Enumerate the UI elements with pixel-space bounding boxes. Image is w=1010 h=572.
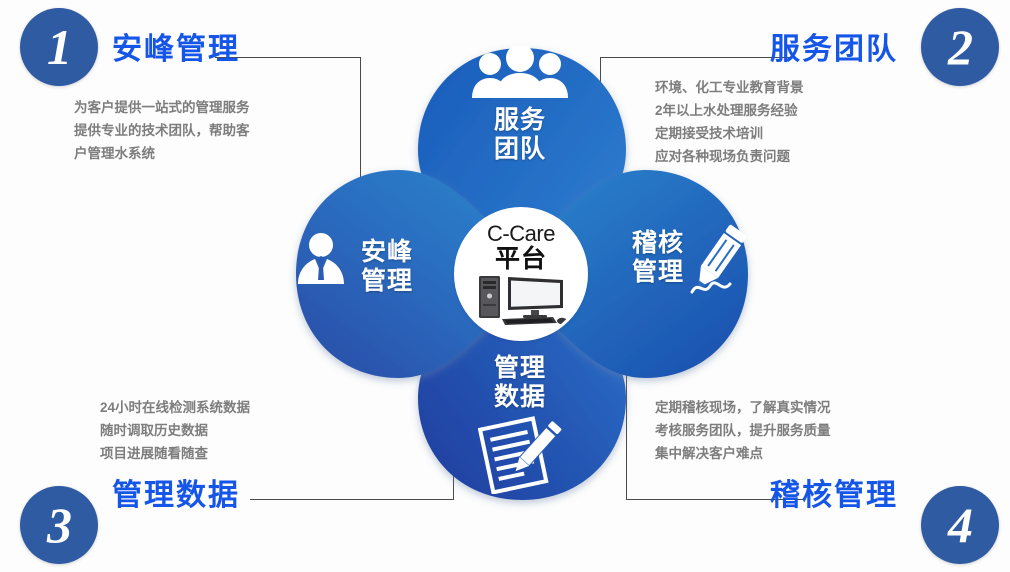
body-line: 提供专业的技术团队，帮助客: [74, 119, 250, 142]
quadrant-title-bottom-left: 管理数据: [112, 470, 240, 514]
body-line: 为客户提供一站式的管理服务: [74, 96, 250, 119]
body-line: 随时调取历史数据: [100, 419, 250, 442]
badge-number-2: 2: [921, 8, 999, 86]
quadrant-title-top-left: 安峰管理: [112, 24, 240, 68]
center-hub: C-Care 平台: [457, 210, 585, 338]
badge-number-3: 3: [20, 486, 98, 564]
body-line: 户管理水系统: [74, 142, 250, 165]
badge-number-1: 1: [20, 8, 98, 86]
desktop-computer-icon: [475, 274, 567, 326]
quadrant-title-bottom-right: 稽核管理: [770, 470, 898, 514]
hub-subtitle: 平台: [495, 246, 547, 273]
body-line: 24小时在线检测系统数据: [100, 396, 250, 419]
quadrant-body-bottom-left: 24小时在线检测系统数据 随时调取历史数据 项目进展随看随查: [100, 396, 250, 465]
hub-title: C-Care: [487, 222, 555, 246]
badge-number-4: 4: [921, 486, 999, 564]
quadrant-body-top-left: 为客户提供一站式的管理服务 提供专业的技术团队，帮助客 户管理水系统: [74, 96, 250, 165]
infographic-canvas: 1 2 3 4 安峰管理 服务团队 管理数据 稽核管理 为客户提供一站式的管理服…: [0, 0, 1010, 572]
body-line: 项目进展随看随查: [100, 442, 250, 465]
quadrant-title-top-right: 服务团队: [770, 24, 898, 68]
